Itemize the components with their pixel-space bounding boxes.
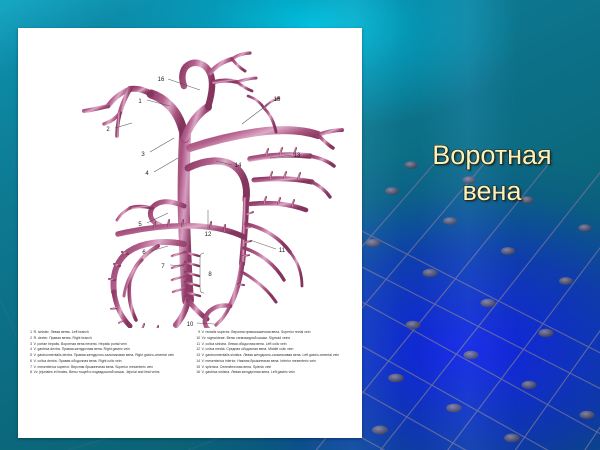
- svg-text:13: 13: [294, 153, 301, 159]
- legend-column-right: 9 V. rectalis superior. Верхняя прямокиш…: [194, 330, 356, 434]
- slide-title-line-2: вена: [392, 174, 592, 210]
- legend-item: 7 V. mesenterica superior. Верхняя брыже…: [26, 365, 188, 370]
- legend-item: 12 V. colica media. Средняя ободочная ве…: [194, 347, 356, 352]
- presentation-slide: 1 2 3 4 5 6 7 8 9 10 11 12 13 14 15 16: [0, 0, 600, 450]
- legend-text: V. splenica. Селезёночная вена. Splenic …: [202, 365, 356, 370]
- legend-text: Vv. jejunales et ileales. Вены тощей и п…: [34, 370, 188, 375]
- legend-column-left: 1 R. sinister. Левая ветвь. Left branch …: [26, 330, 188, 434]
- legend-text: V. colica dextra. Правая ободочная вена.…: [34, 359, 188, 364]
- legend-item: 5 V. gastroomentalis dextra. Правая желу…: [26, 353, 188, 358]
- legend-item: 6 V. colica dextra. Правая ободочная вен…: [26, 359, 188, 364]
- svg-text:4: 4: [145, 171, 149, 177]
- legend-text: V. rectalis superior. Верхняя прямокишеч…: [202, 330, 356, 335]
- legend-item: 1 R. sinister. Левая ветвь. Left branch: [26, 330, 188, 335]
- svg-text:1: 1: [138, 99, 142, 105]
- legend-number: 3: [26, 342, 32, 347]
- svg-text:16: 16: [158, 77, 165, 83]
- legend-number: 12: [194, 347, 200, 352]
- legend-item: 4 V. gastrica dextra. Правая желудочная …: [26, 347, 188, 352]
- legend-number: 1: [26, 330, 32, 335]
- svg-text:12: 12: [205, 232, 212, 238]
- slide-title: Воротная вена: [392, 138, 592, 209]
- legend-item: 13 V. gastroomentalis sinistra. Левая же…: [194, 353, 356, 358]
- legend-number: 13: [194, 353, 200, 358]
- slide-title-line-1: Воротная: [392, 138, 592, 174]
- figure-legend: 1 R. sinister. Левая ветвь. Left branch …: [26, 330, 356, 434]
- legend-number: 2: [26, 336, 32, 341]
- legend-item: 10 Vv. sigmoideae. Вены сигмовидной кишк…: [194, 336, 356, 341]
- legend-text: V. gastroomentalis sinistra. Левая желуд…: [202, 353, 356, 358]
- legend-number: 7: [26, 365, 32, 370]
- legend-text: V. portae hepatis. Воротная вена печени.…: [34, 342, 188, 347]
- legend-number: 14: [194, 359, 200, 364]
- svg-text:8: 8: [208, 272, 212, 278]
- legend-number: 11: [194, 342, 200, 347]
- svg-text:14: 14: [235, 163, 242, 169]
- legend-number: 16: [194, 370, 200, 375]
- legend-text: V. gastrica dextra. Правая желудочная ве…: [34, 347, 188, 352]
- legend-text: V. mesenterica superior. Верхняя брыжееч…: [34, 365, 188, 370]
- legend-number: 10: [194, 336, 200, 341]
- legend-number: 4: [26, 347, 32, 352]
- legend-item: 2 R. dexter. Правая ветвь. Right branch: [26, 336, 188, 341]
- legend-text: R. sinister. Левая ветвь. Left branch: [34, 330, 188, 335]
- svg-text:11: 11: [279, 248, 286, 254]
- legend-item: 9 V. rectalis superior. Верхняя прямокиш…: [194, 330, 356, 335]
- svg-text:7: 7: [161, 264, 165, 270]
- svg-text:10: 10: [187, 322, 194, 328]
- figure-card: 1 2 3 4 5 6 7 8 9 10 11 12 13 14 15 16: [18, 28, 362, 438]
- legend-text: Vv. sigmoideae. Вены сигмовидной кишки. …: [202, 336, 356, 341]
- legend-number: 15: [194, 365, 200, 370]
- legend-item: 15 V. splenica. Селезёночная вена. Splen…: [194, 365, 356, 370]
- svg-text:15: 15: [274, 97, 281, 103]
- legend-item: 8 Vv. jejunales et ileales. Вены тощей и…: [26, 370, 188, 375]
- legend-number: 9: [194, 330, 200, 335]
- legend-text: V. mesenterica inferior. Нижняя брыжеечн…: [202, 359, 356, 364]
- legend-text: V. gastroomentalis dextra. Правая желудо…: [34, 353, 188, 358]
- legend-text: R. dexter. Правая ветвь. Right branch: [34, 336, 188, 341]
- legend-number: 8: [26, 370, 32, 375]
- legend-item: 14 V. mesenterica inferior. Нижняя брыже…: [194, 359, 356, 364]
- legend-text: V. colica sinistra. Левая ободочная вена…: [202, 342, 356, 347]
- legend-item: 11 V. colica sinistra. Левая ободочная в…: [194, 342, 356, 347]
- legend-number: 6: [26, 359, 32, 364]
- legend-text: V. colica media. Средняя ободочная вена.…: [202, 347, 356, 352]
- svg-text:2: 2: [106, 127, 110, 133]
- legend-number: 5: [26, 353, 32, 358]
- portal-vein-diagram: 1 2 3 4 5 6 7 8 9 10 11 12 13 14 15 16: [18, 28, 362, 328]
- legend-text: V. gastrica sinistra. Левая желудочная в…: [202, 370, 356, 375]
- svg-text:3: 3: [141, 152, 145, 158]
- legend-item: 16 V. gastrica sinistra. Левая желудочна…: [194, 370, 356, 375]
- legend-item: 3 V. portae hepatis. Воротная вена печен…: [26, 342, 188, 347]
